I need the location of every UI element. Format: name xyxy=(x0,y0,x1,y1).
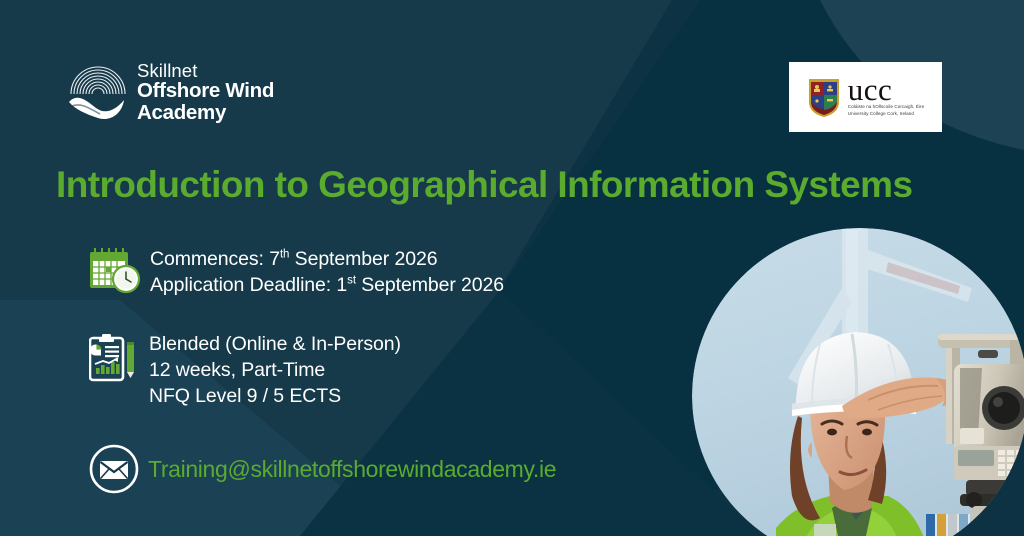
skillnet-wave-shape xyxy=(69,98,124,119)
deadline-prefix: Application Deadline: xyxy=(150,274,336,296)
ucc-letters: ucc xyxy=(848,76,924,105)
skillnet-wordmark: Skillnet Offshore Wind Academy xyxy=(137,61,274,122)
commences-line: Commences: 7th September 2026 xyxy=(150,246,504,272)
detail-row-contact[interactable]: Training@skillnetoffshorewindacademy.ie xyxy=(88,443,556,495)
skillnet-line-2: Offshore Wind xyxy=(137,80,274,101)
deadline-line: Application Deadline: 1st September 2026 xyxy=(150,272,504,298)
contact-email-link[interactable]: Training@skillnetoffshorewindacademy.ie xyxy=(148,456,556,483)
commences-day: 7 xyxy=(269,248,280,270)
ucc-text-block: ucc Coláiste na hOllscoile Corcaigh, Éir… xyxy=(848,76,924,118)
skillnet-line-3: Academy xyxy=(137,102,274,123)
skillnet-logo: Skillnet Offshore Wind Academy xyxy=(68,60,274,124)
page-title: Introduction to Geographical Information… xyxy=(56,163,982,206)
clipboard-chart-pencil-icon xyxy=(89,332,137,384)
format-line-1: Blended (Online & In-Person) xyxy=(149,331,401,357)
format-text-block: Blended (Online & In-Person) 12 weeks, P… xyxy=(149,331,401,409)
deadline-day: 1 xyxy=(336,274,347,296)
detail-row-dates: Commences: 7th September 2026 Applicatio… xyxy=(88,243,504,298)
detail-row-format: Blended (Online & In-Person) 12 weeks, P… xyxy=(89,330,401,409)
calendar-clock-icon xyxy=(88,245,142,295)
commences-ordinal: th xyxy=(280,249,289,261)
deadline-suffix: September 2026 xyxy=(356,274,504,296)
ucc-subtitle-irish: Coláiste na hOllscoile Corcaigh, Éire xyxy=(848,104,924,111)
ucc-crest-icon xyxy=(807,76,841,118)
commences-suffix: September 2026 xyxy=(289,248,437,270)
deadline-ordinal: st xyxy=(347,275,356,287)
skillnet-line-1: Skillnet xyxy=(137,61,274,80)
ucc-logo: ucc Coláiste na hOllscoile Corcaigh, Éir… xyxy=(789,62,942,132)
dates-text-block: Commences: 7th September 2026 Applicatio… xyxy=(150,246,504,298)
skillnet-wave-icon xyxy=(68,60,128,124)
course-promo-poster: Skillnet Offshore Wind Academy ucc xyxy=(0,0,1024,536)
envelope-circle-icon xyxy=(88,443,140,495)
format-line-3: NFQ Level 9 / 5 ECTS xyxy=(149,383,401,409)
format-line-2: 12 weeks, Part-Time xyxy=(149,357,401,383)
commences-prefix: Commences: xyxy=(150,248,269,270)
ucc-subtitle-english: University College Cork, Ireland xyxy=(848,111,924,118)
